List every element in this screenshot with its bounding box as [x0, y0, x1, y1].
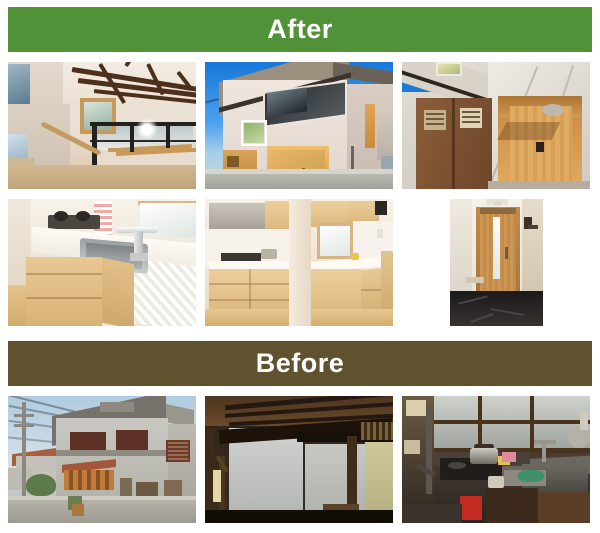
section-banner-before: Before: [8, 341, 592, 386]
after-row-2: New kitchen counter with stainless steel…: [8, 199, 600, 326]
after-photo-kitchen-wide[interactable]: Wide view of the renovated kitchen with …: [205, 199, 393, 326]
before-photo-house-exterior[interactable]: Original aged two-story house with weath…: [8, 396, 196, 523]
after-photo-loft-interior[interactable]: Renovated loft interior with exposed dar…: [8, 62, 196, 189]
before-photo-old-kitchen[interactable]: Original cramped kitchen with an old gas…: [402, 396, 590, 523]
before-photo-dark-interior[interactable]: Original dark interior showing soot-blac…: [205, 396, 393, 523]
photo-old-house-art: [8, 396, 196, 523]
before-row-1: Original aged two-story house with weath…: [8, 396, 600, 523]
photo-loft-interior-art: [8, 62, 196, 189]
after-photo-house-exterior[interactable]: Renovated two-story house exterior with …: [205, 62, 393, 189]
after-photo-entry-doors[interactable]: Close-up of the renovated facade showing…: [402, 62, 590, 189]
photo-kitchen-wide-art: [205, 199, 393, 326]
photo-entrance-hall-art: [450, 199, 543, 326]
photo-old-kitchen-art: [402, 396, 590, 523]
before-after-gallery: After Renovated loft interior with expos…: [0, 0, 600, 533]
section-banner-after: After: [8, 7, 592, 52]
after-photo-kitchen-sink[interactable]: New kitchen counter with stainless steel…: [8, 199, 196, 326]
photo-dark-interior-art: [205, 396, 393, 523]
after-photo-entrance-hall[interactable]: Entrance hall with a wooden door featuri…: [402, 199, 590, 326]
after-row-1: Renovated loft interior with exposed dar…: [8, 62, 600, 189]
photo-house-exterior-art: [205, 62, 393, 189]
photo-entry-doors-art: [402, 62, 590, 189]
photo-kitchen-sink-art: [8, 199, 196, 326]
